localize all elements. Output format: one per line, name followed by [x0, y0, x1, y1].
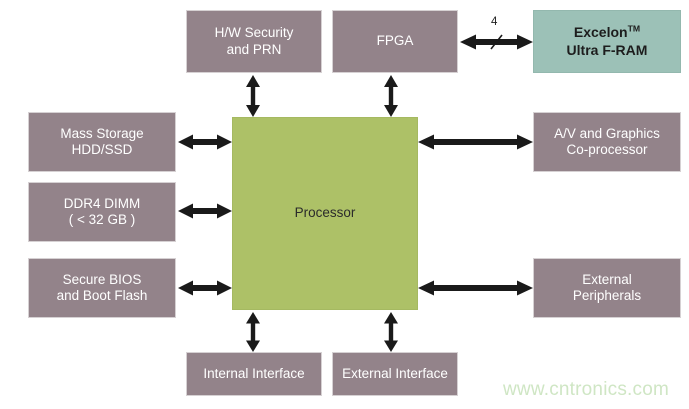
watermark-text: www.cntronics.com	[503, 379, 669, 401]
arrow-processor-to-external-interface	[381, 312, 401, 352]
block-processor-label: Processor	[291, 205, 360, 221]
block-mass-storage[interactable]: Mass Storage HDD/SSD	[28, 112, 176, 172]
block-internal-interface[interactable]: Internal Interface	[186, 352, 322, 396]
arrow-processor-to-external-peripherals	[418, 278, 533, 298]
block-excelon-line2: Ultra F-RAM	[567, 42, 648, 58]
arrow-hw-security-to-processor	[243, 75, 263, 117]
block-processor[interactable]: Processor	[232, 117, 418, 310]
block-excelon-ultra-fram[interactable]: ExcelonTMUltra F-RAM	[533, 10, 681, 73]
block-hw-security-label: H/W Security and PRN	[211, 25, 298, 58]
block-av-graphics-coprocessor[interactable]: A/V and Graphics Co-processor	[533, 112, 681, 172]
arrow-mass-storage-to-processor	[178, 132, 232, 152]
block-excelon-label: ExcelonTMUltra F-RAM	[563, 24, 652, 58]
arrow-processor-to-internal-interface	[243, 312, 263, 352]
block-diagram-canvas: H/W Security and PRN FPGA ExcelonTMUltra…	[0, 0, 689, 409]
block-external-peripherals-label: External Peripherals	[569, 272, 645, 305]
block-av-graphics-coprocessor-label: A/V and Graphics Co-processor	[550, 126, 664, 159]
block-excelon-line1: Excelon	[574, 24, 628, 40]
block-secure-bios[interactable]: Secure BIOS and Boot Flash	[28, 258, 176, 318]
bus-width-label-fpga-excelon: 4	[491, 17, 497, 29]
block-ddr4-dimm[interactable]: DDR4 DIMM ( < 32 GB )	[28, 182, 176, 242]
block-external-interface-label: External Interface	[338, 366, 452, 382]
block-hw-security[interactable]: H/W Security and PRN	[186, 10, 322, 73]
block-mass-storage-label: Mass Storage HDD/SSD	[56, 126, 147, 159]
arrow-fpga-to-processor	[381, 75, 401, 117]
arrow-secure-bios-to-processor	[178, 278, 232, 298]
trademark-symbol: TM	[628, 24, 641, 34]
block-fpga[interactable]: FPGA	[332, 10, 458, 73]
arrow-processor-to-av-graphics	[418, 132, 533, 152]
block-external-peripherals[interactable]: External Peripherals	[533, 258, 681, 318]
block-fpga-label: FPGA	[373, 33, 418, 49]
block-secure-bios-label: Secure BIOS and Boot Flash	[53, 272, 152, 305]
block-internal-interface-label: Internal Interface	[199, 366, 308, 382]
arrow-fpga-to-excelon	[460, 32, 533, 52]
block-external-interface[interactable]: External Interface	[332, 352, 458, 396]
arrow-ddr4-to-processor	[178, 201, 232, 221]
block-ddr4-dimm-label: DDR4 DIMM ( < 32 GB )	[60, 196, 145, 229]
